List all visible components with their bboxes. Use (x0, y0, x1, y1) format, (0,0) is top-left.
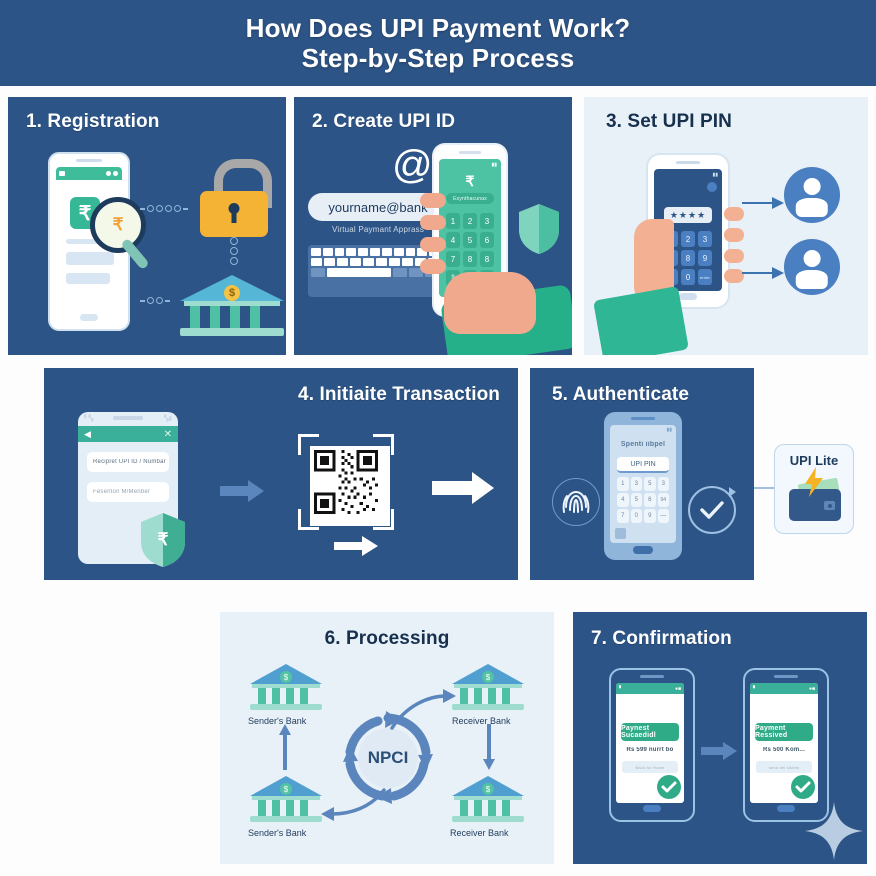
arrow-down-icon (482, 724, 496, 775)
step-card-confirmation[interactable]: 7. Confirmation ▘ ●■ Paynest Sucaedidl R… (573, 612, 867, 864)
upi-lite-box[interactable]: UPI Lite (774, 444, 854, 534)
amount-field[interactable]: Fesenton M/Menber (87, 482, 169, 502)
chain-link-icon (140, 292, 172, 294)
chain-link-icon (140, 200, 190, 202)
finger-icon (724, 228, 744, 242)
payment-amount: Rs 599 nurrt bo (616, 747, 684, 753)
sparkle-icon (805, 802, 863, 864)
card-title-6: 6. Processing (325, 628, 450, 650)
padlock-icon (196, 159, 272, 237)
lightning-bolt-icon (803, 467, 825, 502)
step-card-registration[interactable]: 1. Registration ₹ ₹ (8, 97, 286, 355)
arrow-curve-left-icon (316, 788, 388, 827)
finger-icon (724, 269, 744, 283)
upi-id-value: yourname@bank (328, 200, 427, 215)
arrow-right-icon (742, 195, 784, 216)
card-title-5: 5. Authenticate (552, 384, 689, 406)
bank-icon: $ (250, 772, 322, 824)
card-title-3: 3. Set UPI PIN (606, 111, 732, 133)
phone-icon: ▘ ●■ Paynest Sucaedidl Rs 599 nurrt bo B… (609, 668, 695, 822)
card-title-2: 2. Create UPI ID (312, 111, 455, 133)
finger-icon (724, 207, 744, 221)
bank-icon: $ (180, 265, 284, 337)
bank-label: Receiver Bank (450, 828, 509, 838)
fingerprint-icon (552, 478, 600, 526)
npci-hub-label: NPCI (358, 728, 418, 788)
payment-status-banner: Payment Ressived (755, 723, 813, 741)
finger-icon (724, 249, 744, 263)
shield-rupee-icon: ₹ (140, 512, 186, 568)
page-title-line-1: How Does UPI Payment Work? (246, 13, 631, 43)
hand-palm-icon (444, 272, 536, 334)
arrow-right-icon (334, 536, 378, 561)
phone-icon: ▮▮ Spenti iibpel UPI PIN 1 3 5 3 4 5 6 9… (604, 412, 682, 560)
check-circle-icon (688, 486, 736, 534)
arrow-right-icon (742, 265, 784, 286)
card-title-1: 1. Registration (26, 111, 159, 133)
arrow-up-icon (278, 724, 292, 775)
arrow-right-icon (701, 742, 737, 765)
user-avatar-icon (784, 167, 840, 223)
page-title-line-2: Step-by-Step Process (302, 43, 575, 73)
sleeve-icon (593, 286, 689, 355)
step-card-processing[interactable]: 6. Processing $ Sender's Bank $ Receiver… (220, 612, 554, 864)
user-avatar-icon (784, 239, 840, 295)
phone-icon: ▘▚ ▚▮ ◀ ✕ Recipret UPI ID / Numbar Fesen… (78, 412, 178, 564)
step-card-initiate-transaction[interactable]: 4. Initiaite Transaction ▘▚ ▚▮ ◀ ✕ Recip… (44, 368, 518, 580)
card-title-4: 4. Initiaite Transaction (298, 384, 500, 406)
check-circle-icon (657, 775, 681, 799)
phone-screen-label: Esynthacunax (446, 193, 494, 204)
qr-code-icon[interactable] (310, 446, 390, 526)
keypad[interactable]: 1 3 5 3 4 5 6 94 7 0 9 — (617, 477, 669, 523)
shield-icon (518, 203, 560, 255)
payment-amount: Rs 500 Kom... (750, 747, 818, 753)
infographic-root: How Does UPI Payment Work? Step-by-Step … (0, 0, 876, 876)
card-title-7: 7. Confirmation (591, 628, 732, 650)
bank-icon: $ (452, 772, 524, 824)
rupee-icon: ₹ (466, 173, 475, 190)
bank-icon: $ (452, 660, 524, 712)
recipient-id-field-value: Recipret UPI ID / Numbar (93, 459, 166, 465)
bank-label: Sender's Bank (248, 828, 306, 838)
upi-lite-label: UPI Lite (775, 453, 853, 468)
upi-pin-field[interactable]: UPI PIN (617, 457, 669, 473)
phone-action-button[interactable]: send dei sikime (756, 761, 812, 773)
at-symbol-icon: @ (392, 145, 433, 185)
check-circle-icon (791, 775, 815, 799)
step-card-create-upi-id[interactable]: 2. Create UPI ID @ yourname@bank Virtual… (294, 97, 572, 355)
step-card-set-upi-pin[interactable]: 3. Set UPI PIN ▮▮ ★★★★ 4 2 3 7 8 9 * 0 e… (584, 97, 868, 355)
magnifier-icon: ₹ (90, 197, 146, 253)
payment-status-banner: Paynest Sucaedidl (621, 723, 679, 741)
page-header: How Does UPI Payment Work? Step-by-Step … (0, 0, 876, 86)
connector-line (754, 487, 774, 489)
arrow-right-icon (220, 480, 264, 507)
phone-icon: ▘ ●■ Payment Ressived Rs 500 Kom... send… (743, 668, 829, 822)
chain-link-vertical-icon (230, 237, 238, 267)
back-arrow-icon[interactable]: ◀ (84, 429, 91, 440)
phone-action-button[interactable]: Back for Home (622, 761, 678, 773)
hand-icon (420, 193, 446, 285)
arrow-curve-right-icon (388, 686, 460, 735)
bank-icon: $ (250, 660, 322, 712)
close-icon[interactable]: ✕ (164, 429, 172, 440)
arrow-right-icon (432, 472, 494, 509)
amount-field-value: Fesenton M/Menber (93, 489, 150, 495)
screen-heading: Spenti iibpel (610, 441, 676, 448)
step-card-authenticate[interactable]: 5. Authenticate ▮▮ Spenti iibpel UPI PIN… (530, 368, 754, 580)
recipient-id-field[interactable]: Recipret UPI ID / Numbar (87, 452, 169, 472)
